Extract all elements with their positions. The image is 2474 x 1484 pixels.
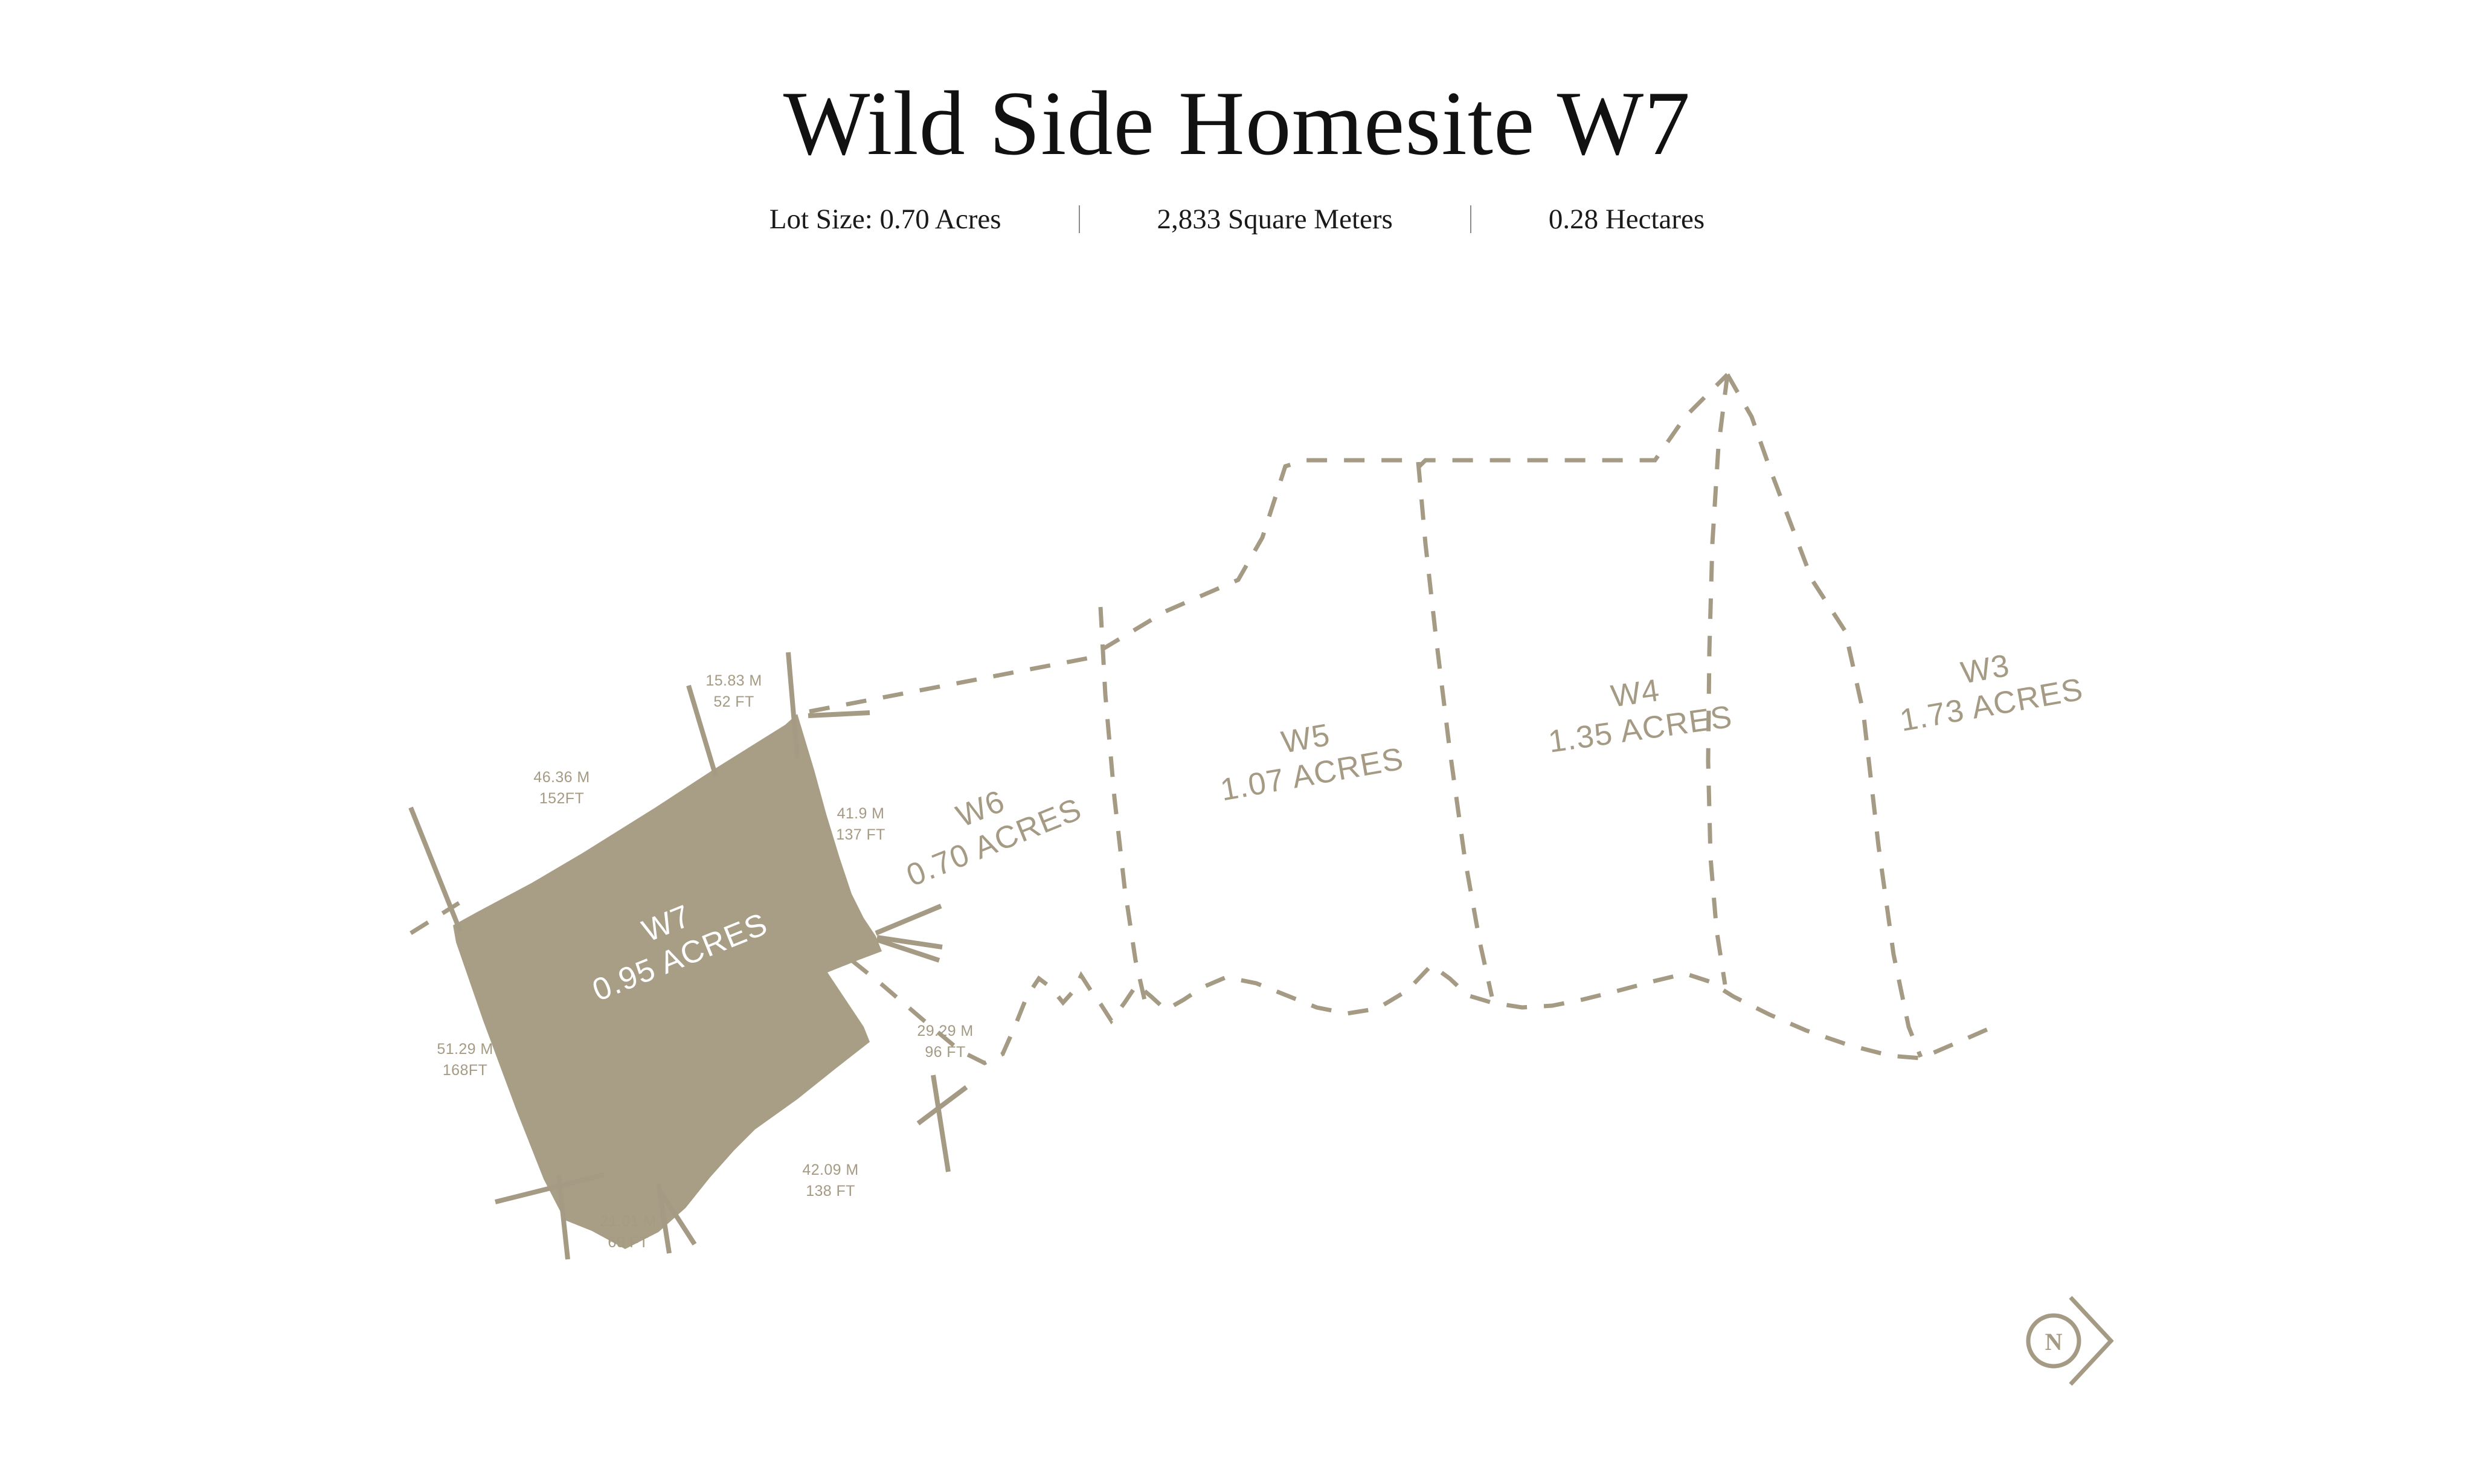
dimension-southeast-edge-meters: 42.09 M <box>802 1161 858 1178</box>
dimension-southeast-edge-feet: 138 FT <box>806 1183 855 1200</box>
compass-north-letter: N <box>2045 1328 2063 1355</box>
dimension-east-upper-edge-feet: 137 FT <box>836 826 885 843</box>
lot-label-w3-name: W3 <box>1958 648 2013 691</box>
dimension-north-edge-feet: 52 FT <box>713 693 754 710</box>
boundary-north <box>809 374 1727 711</box>
dimension-east-upper-edge: 41.9 M 137 FT <box>836 805 885 843</box>
plat-map: W7 0.95 ACRES W6 0.70 ACRES W5 1.07 ACRE… <box>0 0 2474 1484</box>
dimension-west-edge-feet: 168FT <box>443 1062 487 1079</box>
plat-map-svg: W7 0.95 ACRES W6 0.70 ACRES W5 1.07 ACRE… <box>0 0 2474 1484</box>
tick-north-c <box>808 713 870 716</box>
dimension-northwest-edge-meters: 46.36 M <box>533 769 590 786</box>
tick-north-a <box>689 686 716 776</box>
lot-label-w4-name: W4 <box>1608 673 1662 715</box>
dimension-east-lower-edge-meters: 29.29 M <box>917 1023 973 1039</box>
dimension-northwest-edge: 46.36 M 152FT <box>533 769 590 807</box>
dimension-east-lower-edge-feet: 96 FT <box>925 1044 965 1061</box>
tick-east-a <box>876 906 941 933</box>
north-arrow-icon: N <box>2028 1297 2111 1384</box>
lot-label-w6[interactable]: W6 0.70 ACRES <box>888 758 1087 893</box>
tick-northwest <box>411 808 460 931</box>
lot-label-w5-name: W5 <box>1279 718 1333 760</box>
dimension-north-edge-meters: 15.83 M <box>705 672 762 689</box>
dimension-west-edge-meters: 51.29 M <box>437 1041 493 1058</box>
lot-label-w3[interactable]: W3 1.73 ACRES <box>1891 636 2086 739</box>
dimension-southeast-edge: 42.09 M 138 FT <box>802 1161 858 1200</box>
boundary-northeast-apex <box>1727 374 1921 1057</box>
boundary-w4-w5-divider <box>1418 462 1492 997</box>
tick-southeast-b <box>933 1075 948 1172</box>
boundary-w5-w6-divider <box>1100 607 1145 1003</box>
dimension-south-edge-meters: 21.01 M <box>600 1213 656 1230</box>
dimension-northwest-edge-feet: 152FT <box>539 790 584 807</box>
dimension-east-lower-edge: 29.29 M 96 FT <box>917 1023 973 1061</box>
dimension-north-edge: 15.83 M 52 FT <box>705 672 762 710</box>
boundary-south-jagged <box>852 960 1993 1063</box>
compass-chevron-icon <box>2071 1297 2111 1384</box>
lot-label-w5[interactable]: W5 1.07 ACRES <box>1212 705 1407 808</box>
dimension-west-edge: 51.29 M 168FT <box>437 1041 493 1079</box>
lot-label-w4[interactable]: W4 1.35 ACRES <box>1541 663 1735 760</box>
boundary-w3-w4-divider <box>1708 374 1727 985</box>
dimension-east-upper-edge-meters: 41.9 M <box>837 805 885 822</box>
dimension-south-edge-feet: 69 FT <box>608 1234 648 1251</box>
